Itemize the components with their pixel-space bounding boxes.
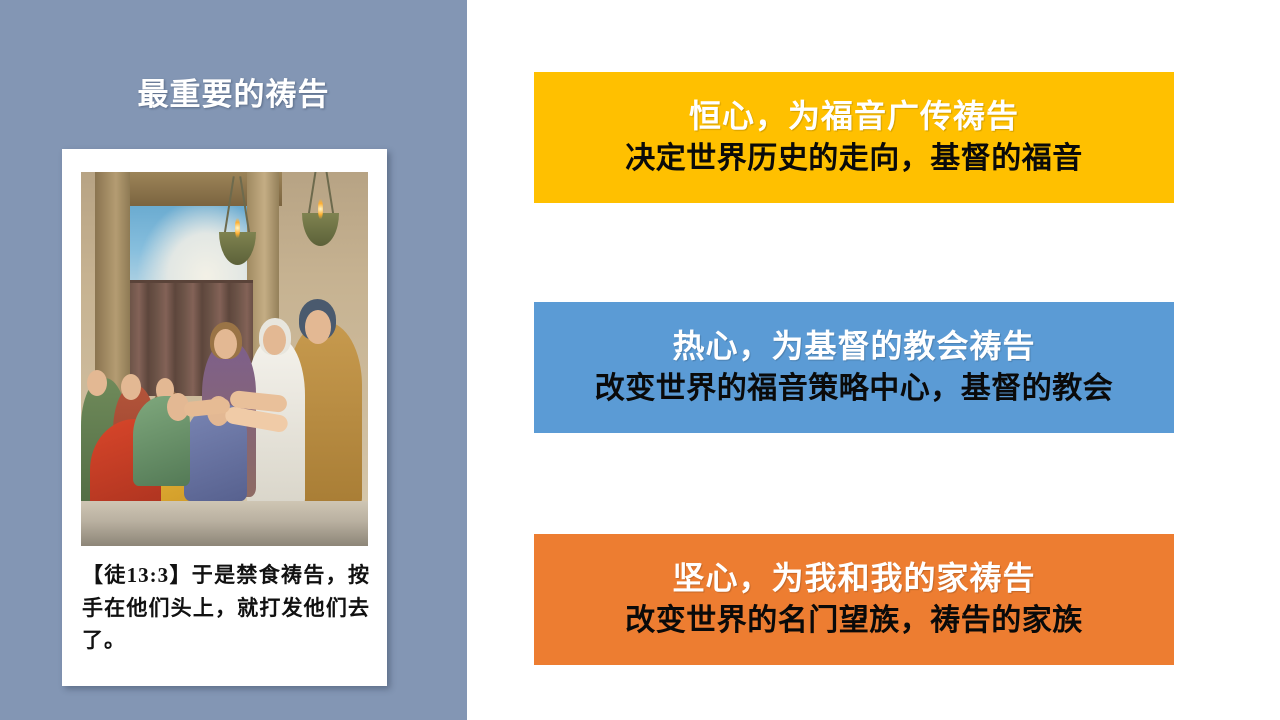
slide-canvas: 最重要的祷告 [0, 0, 1280, 720]
point-box-1[interactable]: 恒心，为福音广传祷告 决定世界历史的走向，基督的福音 [534, 72, 1174, 203]
scripture-caption: 【徒13:3】于是禁食祷告，按手在他们头上，就打发他们去了。 [82, 559, 370, 657]
painting-artwork [81, 172, 368, 546]
point-1-subline: 决定世界历史的走向，基督的福音 [625, 141, 1083, 176]
left-panel: 最重要的祷告 [0, 0, 467, 720]
photo-card: 【徒13:3】于是禁食祷告，按手在他们头上，就打发他们去了。 [62, 149, 387, 686]
point-1-headline: 恒心，为福音广传祷告 [689, 98, 1019, 136]
scripture-painting-image [81, 172, 368, 546]
point-3-subline: 改变世界的名门望族，祷告的家族 [625, 603, 1083, 638]
point-3-headline: 坚心，为我和我的家祷告 [672, 560, 1035, 598]
point-2-headline: 热心，为基督的教会祷告 [672, 328, 1035, 366]
point-2-subline: 改变世界的福音策略中心，基督的教会 [595, 371, 1114, 406]
page-title: 最重要的祷告 [0, 76, 467, 113]
point-box-3[interactable]: 坚心，为我和我的家祷告 改变世界的名门望族，祷告的家族 [534, 534, 1174, 665]
point-box-2[interactable]: 热心，为基督的教会祷告 改变世界的福音策略中心，基督的教会 [534, 302, 1174, 433]
hanging-lamp-icon [302, 172, 339, 284]
hanging-lamp-icon [219, 176, 256, 303]
